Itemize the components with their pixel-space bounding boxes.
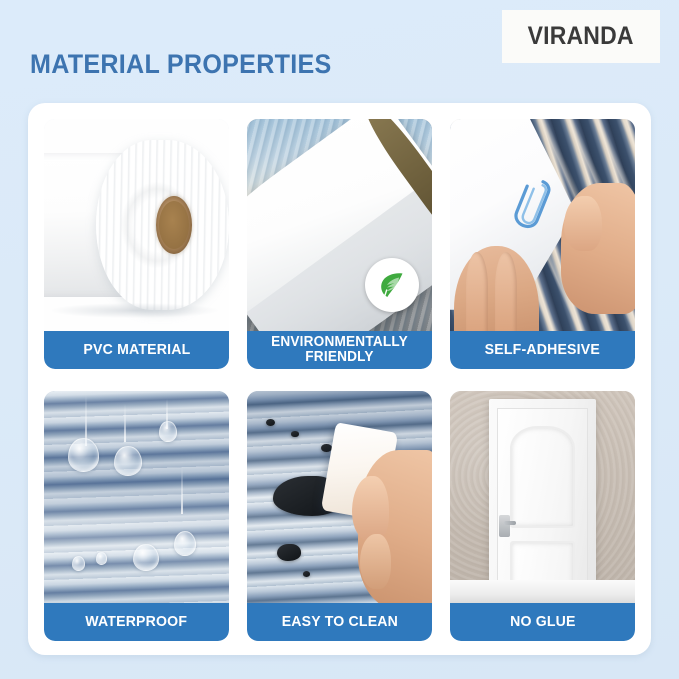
feature-label-easy-to-clean: EASY TO CLEAN: [247, 603, 432, 641]
feature-label-text: PVC MATERIAL: [83, 342, 190, 357]
pvc-roll-image: [44, 119, 229, 331]
feature-card-waterproof[interactable]: WATERPROOF: [44, 391, 229, 641]
brand-name: VIRANDA: [528, 22, 634, 51]
pvc-roll-shape: [96, 140, 229, 310]
door-leaf: [497, 408, 587, 599]
feature-label-self-adhesive: SELF-ADHESIVE: [450, 331, 635, 369]
water-droplet: [133, 544, 159, 572]
water-droplet: [72, 556, 85, 571]
features-panel: PVC MATERIAL ENVIRONMENT: [28, 103, 651, 655]
pvc-core-shape: [156, 196, 192, 254]
water-droplet: [68, 438, 99, 472]
feature-card-pvc-material[interactable]: PVC MATERIAL: [44, 119, 229, 369]
waterproof-image: [44, 391, 229, 603]
eco-roll-image: [247, 119, 432, 331]
striped-marble-surface: [44, 391, 229, 603]
water-droplet: [96, 552, 107, 565]
door-upper-panel: [510, 426, 575, 528]
door-handle: [499, 515, 510, 538]
drop-trail: [124, 404, 126, 442]
door-frame: [489, 399, 596, 603]
pvc-shadow: [51, 303, 218, 318]
feature-label-environmentally-friendly: ENVIRONMENTALLY FRIENDLY: [247, 331, 432, 369]
feature-label-pvc-material: PVC MATERIAL: [44, 331, 229, 369]
stain-spot: [266, 419, 275, 426]
right-hand: [561, 183, 635, 314]
page-title: MATERIAL PROPERTIES: [30, 49, 332, 80]
water-droplet: [174, 531, 196, 556]
feature-label-waterproof: WATERPROOF: [44, 603, 229, 641]
baseboard: [450, 580, 635, 603]
hand-holding-sponge: [358, 450, 432, 603]
feature-label-text: NO GLUE: [510, 614, 576, 629]
stain-spot: [277, 544, 301, 561]
easy-to-clean-image: [247, 391, 432, 603]
leaf-icon: [365, 258, 419, 312]
feature-label-text: SELF-ADHESIVE: [485, 342, 600, 357]
feature-label-text: EASY TO CLEAN: [281, 614, 397, 629]
no-glue-door-image: [450, 391, 635, 603]
drop-trail: [181, 467, 183, 514]
feature-label-no-glue: NO GLUE: [450, 603, 635, 641]
feature-card-self-adhesive[interactable]: SELF-ADHESIVE: [450, 119, 635, 369]
brand-badge: VIRANDA: [502, 10, 660, 63]
water-droplet: [159, 421, 178, 442]
self-adhesive-image: [450, 119, 635, 331]
feature-card-no-glue[interactable]: NO GLUE: [450, 391, 635, 641]
features-grid: PVC MATERIAL ENVIRONMENT: [44, 119, 635, 641]
water-droplet: [114, 446, 142, 476]
stain-spot: [291, 431, 298, 437]
stain-spot: [303, 571, 310, 577]
feature-label-text: ENVIRONMENTALLY FRIENDLY: [256, 335, 422, 365]
feature-card-easy-to-clean[interactable]: EASY TO CLEAN: [247, 391, 432, 641]
feature-label-text: WATERPROOF: [86, 614, 188, 629]
feature-card-environmentally-friendly[interactable]: ENVIRONMENTALLY FRIENDLY: [247, 119, 432, 369]
